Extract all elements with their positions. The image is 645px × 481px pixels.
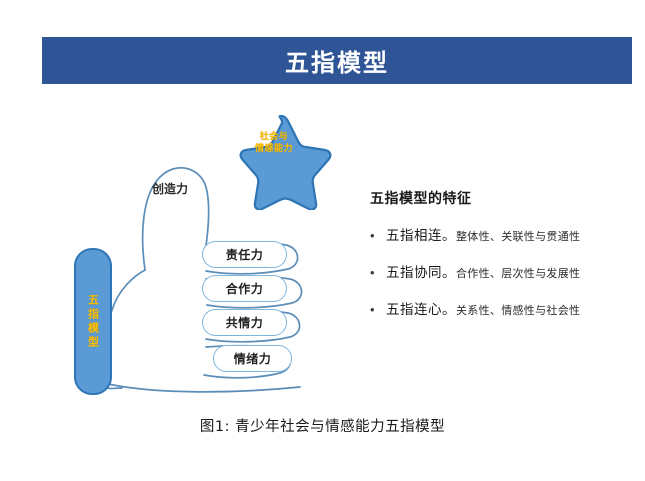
star-label-line1: 社会与 xyxy=(232,131,316,143)
feature-item: • 五指协同。合作性、层次性与发展性 xyxy=(370,261,632,282)
feature-detail: 整体性、关联性与贯通性 xyxy=(456,230,580,243)
feature-item: • 五指连心。关系性、情感性与社会性 xyxy=(370,298,632,319)
figure-caption: 图1: 青少年社会与情感能力五指模型 xyxy=(0,415,645,436)
finger-label: 合作力 xyxy=(226,280,264,297)
feature-lead: 五指相连。 xyxy=(386,228,456,244)
bullet-icon: • xyxy=(370,266,386,280)
features-heading: 五指模型的特征 xyxy=(370,188,632,208)
feature-lead: 五指协同。 xyxy=(386,265,456,281)
five-finger-model-diagram: 社会与 情感能力 创造力 五指模型 责任力 合作力 共情力 情绪力 xyxy=(0,95,345,405)
bullet-icon: • xyxy=(370,229,386,243)
features-panel: 五指模型的特征 • 五指相连。整体性、关联性与贯通性 • 五指协同。合作性、层次… xyxy=(370,188,632,335)
finger-pill-cooperation: 合作力 xyxy=(202,275,287,302)
palm-pill: 五指模型 xyxy=(74,248,112,395)
feature-detail: 关系性、情感性与社会性 xyxy=(456,304,580,317)
finger-pill-empathy: 共情力 xyxy=(202,309,287,336)
title-banner: 五指模型 xyxy=(42,37,632,84)
thumb-label-creativity: 创造力 xyxy=(152,180,188,197)
feature-lead: 五指连心。 xyxy=(386,302,456,318)
feature-item: • 五指相连。整体性、关联性与贯通性 xyxy=(370,224,632,245)
star-shape xyxy=(226,110,336,210)
finger-pill-responsibility: 责任力 xyxy=(202,241,287,268)
finger-label: 责任力 xyxy=(226,246,264,263)
page-title: 五指模型 xyxy=(285,43,389,78)
star-label: 社会与 情感能力 xyxy=(232,131,316,155)
feature-detail: 合作性、层次性与发展性 xyxy=(456,267,580,280)
palm-label: 五指模型 xyxy=(86,294,101,350)
finger-label: 情绪力 xyxy=(234,350,272,367)
star-label-line2: 情感能力 xyxy=(232,143,316,155)
finger-label: 共情力 xyxy=(226,314,264,331)
finger-pill-emotion: 情绪力 xyxy=(213,345,292,372)
bullet-icon: • xyxy=(370,303,386,317)
